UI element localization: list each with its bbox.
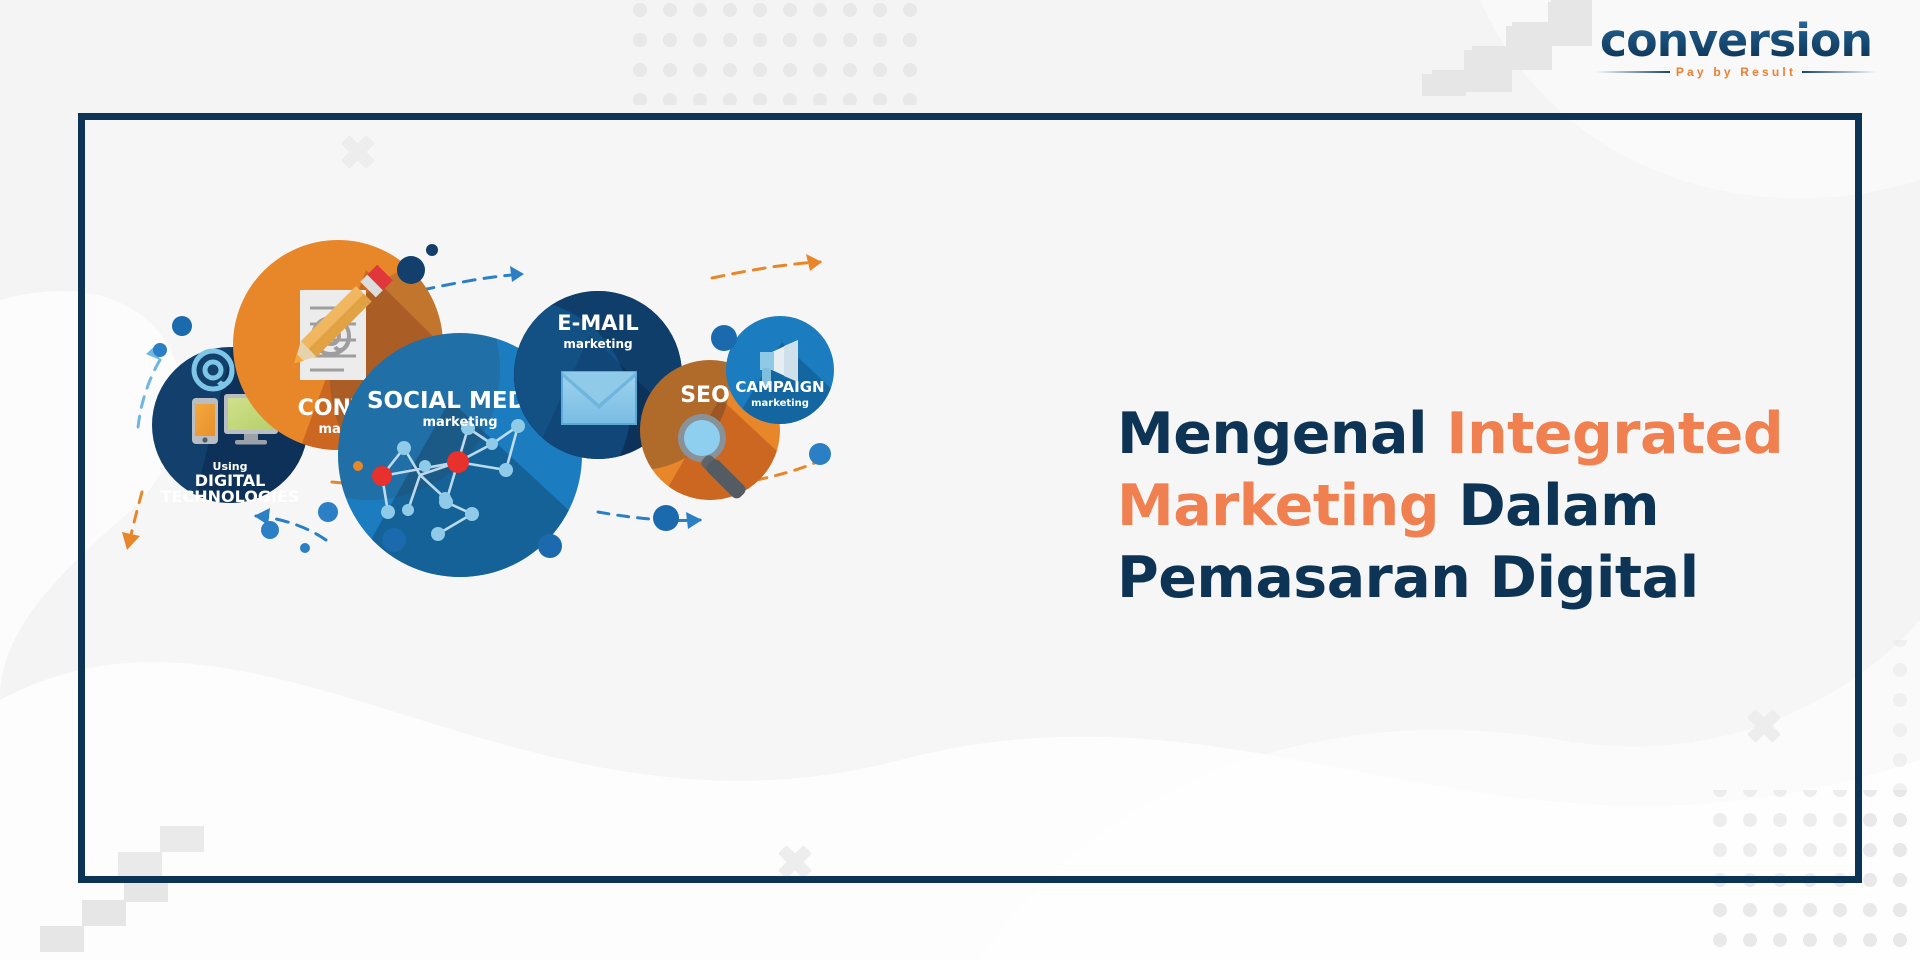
infographic: Using DIGITAL TECHNOLOGIES (120, 230, 960, 650)
headline-line-3: Pemasaran Digital (1117, 542, 1817, 614)
label-seo-main: SEO (680, 383, 730, 408)
headline-line2-highlight: Marketing (1117, 473, 1439, 539)
page-title: Mengenal Integrated Marketing Dalam Pema… (1117, 398, 1817, 614)
accent-dot (653, 505, 679, 531)
brand-logo-wordmark: conversion (1593, 18, 1879, 64)
accent-dot (538, 534, 562, 558)
accent-dot (261, 521, 279, 539)
label-email-main: E-MAIL (557, 311, 638, 335)
headline-line1-plain: Mengenal (1117, 401, 1446, 467)
banner-canvas: conversion Pay by Result Mengenal Integr… (0, 0, 1920, 960)
accent-dot (382, 528, 406, 552)
brand-tagline: Pay by Result (1676, 65, 1796, 79)
headline-line2-plain: Dalam (1439, 473, 1659, 539)
label-social-small: marketing (422, 415, 497, 430)
headline-line-2: Marketing Dalam (1117, 470, 1817, 542)
accent-dot (711, 325, 737, 351)
label-campaign-small: marketing (751, 398, 809, 409)
headline-line1-highlight: Integrated (1446, 401, 1783, 467)
accent-dot (153, 343, 167, 357)
brand-tagline-row: Pay by Result (1596, 65, 1876, 79)
accent-dot (397, 256, 425, 284)
label-campaign-main: CAMPAIGN (735, 378, 824, 396)
accent-dot (318, 502, 338, 522)
accent-dot (300, 543, 310, 553)
accent-dot (172, 316, 192, 336)
accent-dot (353, 461, 363, 471)
headline-line3-plain: Pemasaran Digital (1117, 545, 1699, 611)
envelope-icon (562, 372, 636, 424)
accent-dot (426, 244, 438, 256)
headline-line-1: Mengenal Integrated (1117, 398, 1817, 470)
brand-logo[interactable]: conversion Pay by Result (1596, 18, 1876, 88)
smartphone-icon (192, 398, 218, 444)
label-digital-main2: TECHNOLOGIES (161, 487, 300, 506)
label-email-small: marketing (563, 337, 632, 351)
tagline-rule-left (1596, 71, 1670, 73)
tagline-rule-right (1802, 71, 1876, 73)
accent-dot (809, 443, 831, 465)
